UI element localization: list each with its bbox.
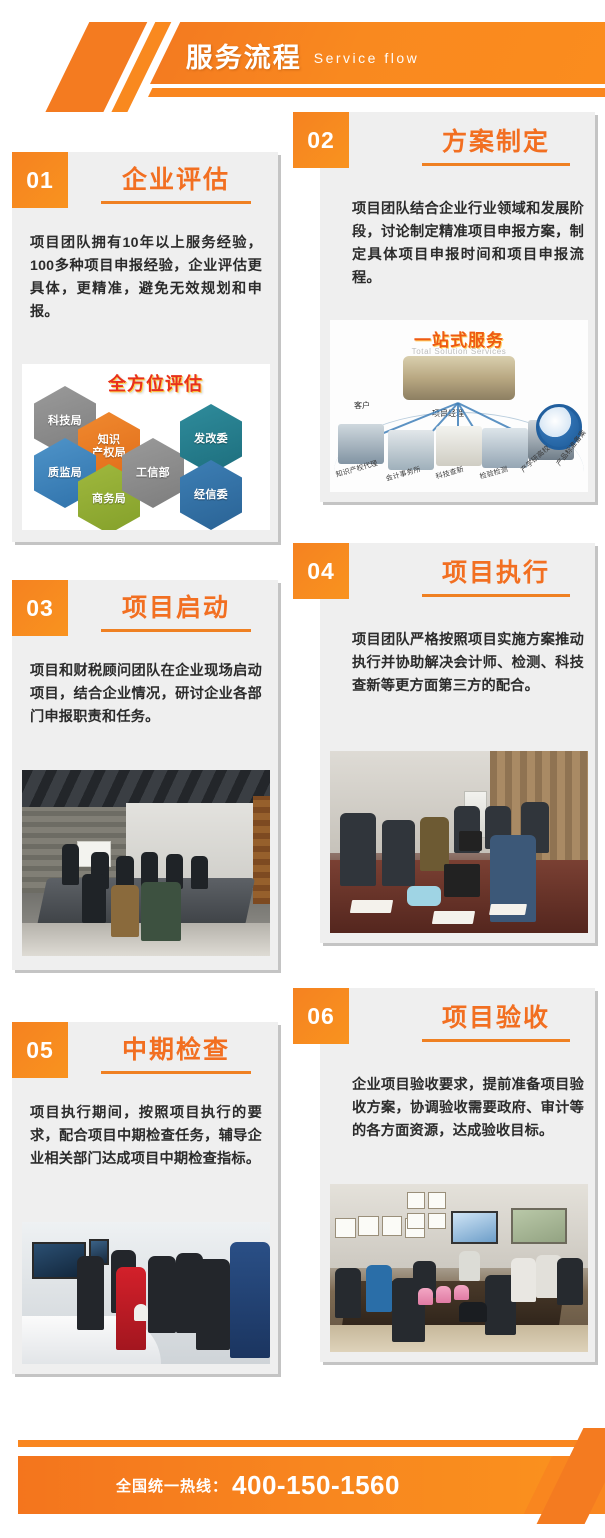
- step-description: 项目团队拥有10年以上服务经验，100多种项目申报经验，企业评估更具体，更精准，…: [30, 232, 262, 324]
- step-media-photo-acceptance: [330, 1184, 588, 1352]
- step-media-photo-midterm: [22, 1222, 270, 1364]
- step-number-badge: 06: [293, 988, 349, 1044]
- step-description: 企业项目验收要求，提前准备项目验收方案，协调验收需要政府、审计等的各方面资源，达…: [352, 1074, 584, 1143]
- step-title: 方案制定: [406, 122, 586, 158]
- title-underline: [422, 594, 570, 597]
- step-title-wrap: 项目启动: [78, 588, 274, 632]
- step-title-wrap: 项目验收: [406, 998, 586, 1042]
- title-underline: [422, 163, 570, 166]
- step-title: 项目验收: [406, 998, 586, 1034]
- page-title: 服务流程: [186, 36, 302, 75]
- one-stop-hub-photo: [403, 356, 515, 400]
- title-underline: [422, 1039, 570, 1042]
- step-title-wrap: 方案制定: [406, 122, 586, 166]
- step-media-photo-kickoff: [22, 770, 270, 956]
- step-title-wrap: 企业评估: [78, 160, 274, 204]
- page-footer: 全国统一热线： 400-150-1560: [0, 1418, 605, 1538]
- page-subtitle: Service flow: [314, 44, 419, 66]
- footer-accent-line: [18, 1440, 552, 1447]
- step-card-04[interactable]: 04 项目执行 项目团队严格按照项目实施方案推动执行并协助解决会计师、检测、科技…: [320, 543, 595, 943]
- footer-hotline-group: 全国统一热线： 400-150-1560: [18, 1456, 498, 1514]
- step-number-badge: 02: [293, 112, 349, 168]
- header-banner-underline: [148, 88, 605, 97]
- step-title-wrap: 中期检查: [78, 1030, 274, 1074]
- hotline-label: 全国统一热线：: [116, 1475, 228, 1496]
- step-card-06[interactable]: 06 项目验收 企业项目验收要求，提前准备项目验收方案，协调验收需要政府、审计等…: [320, 988, 595, 1362]
- step-media-photo-execution: [330, 751, 588, 933]
- hotline-number[interactable]: 400-150-1560: [232, 1470, 400, 1501]
- one-stop-subtitle: Total Solution Services: [330, 347, 588, 356]
- header-title-group: 服务流程 Service flow: [0, 30, 605, 80]
- one-stop-node-inspection: [482, 428, 528, 468]
- service-flow-infographic: 服务流程 Service flow 01 企业评估 项目团队拥有10年以上服务经…: [0, 0, 605, 1538]
- step-media-one-stop-service: 一站式服务 Total Solution Services 客户 项目经理 知识…: [330, 320, 588, 492]
- step-card-02[interactable]: 02 方案制定 项目团队结合企业行业领域和发展阶段，讨论制定精准项目申报方案，制…: [320, 112, 595, 502]
- step-title: 项目启动: [78, 588, 274, 624]
- step-title: 企业评估: [78, 160, 274, 196]
- hexagon-chart-title: 全方位评估: [108, 370, 203, 396]
- step-card-03[interactable]: 03 项目启动 项目和财税顾问团队在企业现场启动项目，结合企业情况，研讨企业各部…: [12, 580, 278, 970]
- step-card-05[interactable]: 05 中期检查 项目执行期间，按照项目执行的要求，配合项目中期检查任务，辅导企业…: [12, 1022, 278, 1374]
- step-description: 项目和财税顾问团队在企业现场启动项目，结合企业情况，研讨企业各部门申报职责和任务…: [30, 660, 262, 729]
- one-stop-node-ip-agency: [338, 424, 384, 464]
- step-number-badge: 03: [12, 580, 68, 636]
- one-stop-label-customer: 客户: [354, 400, 370, 411]
- step-description: 项目团队严格按照项目实施方案推动执行并协助解决会计师、检测、科技查新等更方面第三…: [352, 629, 584, 698]
- step-description: 项目团队结合企业行业领域和发展阶段，讨论制定精准项目申报方案，制定具体项目申报时…: [352, 198, 584, 290]
- page-header: 服务流程 Service flow: [0, 0, 605, 112]
- title-underline: [101, 629, 251, 632]
- step-number-badge: 01: [12, 152, 68, 208]
- one-stop-node-tech-search: [436, 426, 482, 466]
- one-stop-node-accounting: [388, 430, 434, 470]
- step-number-badge: 05: [12, 1022, 68, 1078]
- title-underline: [101, 1071, 251, 1074]
- step-title: 项目执行: [406, 553, 586, 589]
- title-underline: [101, 201, 251, 204]
- hex-node-jingxin-wei: 经信委: [180, 460, 242, 530]
- step-card-01[interactable]: 01 企业评估 项目团队拥有10年以上服务经验，100多种项目申报经验，企业评估…: [12, 152, 278, 542]
- step-title-wrap: 项目执行: [406, 553, 586, 597]
- step-media-hexagon-chart: 全方位评估 科技局 知识产权局 质监局 商务局 工信部 发改委 经信委: [22, 364, 270, 530]
- step-description: 项目执行期间，按照项目执行的要求，配合项目中期检查任务，辅导企业相关部门达成项目…: [30, 1102, 262, 1171]
- step-title: 中期检查: [78, 1030, 274, 1066]
- step-number-badge: 04: [293, 543, 349, 599]
